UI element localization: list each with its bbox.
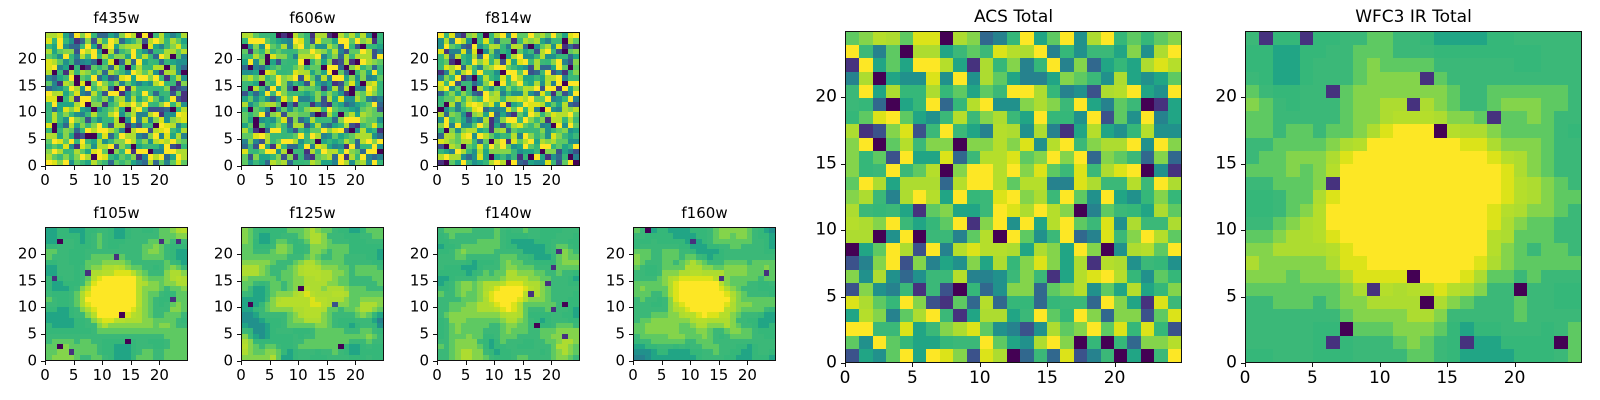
x-tick-label: 15: [513, 173, 532, 188]
y-tick-label: 0: [223, 354, 233, 369]
y-tick-mark: [41, 112, 45, 113]
x-tick-label: 5: [907, 370, 918, 387]
x-tick-label: 20: [150, 173, 169, 188]
x-tick-label: 15: [1036, 370, 1058, 387]
y-axis-f125w: 05101520: [181, 227, 233, 361]
axes-f435w: [45, 32, 188, 166]
y-tick-label: 15: [18, 273, 37, 288]
y-tick-label: 15: [1215, 155, 1237, 172]
x-tick-label: 0: [432, 173, 442, 188]
y-tick-label: 15: [410, 78, 429, 93]
x-tick-label: 0: [840, 370, 851, 387]
panel-title-f125w: f125w: [241, 206, 384, 221]
x-tick-label: 10: [681, 368, 700, 383]
panel-f140w: f140w0510152005101520: [377, 195, 580, 391]
y-tick-label: 5: [419, 132, 429, 147]
x-tick-label: 15: [121, 368, 140, 383]
y-tick-label: 5: [826, 288, 837, 305]
y-tick-mark: [237, 86, 241, 87]
x-tick-mark: [845, 363, 846, 367]
y-tick-label: 0: [27, 159, 37, 174]
x-tick-label: 20: [738, 368, 757, 383]
y-tick-mark: [841, 297, 845, 298]
x-tick-mark: [466, 166, 467, 170]
x-tick-label: 5: [69, 173, 79, 188]
heatmap-f160w: [634, 228, 775, 360]
x-tick-label: 20: [1104, 370, 1126, 387]
y-axis-f140w: 05101520: [377, 227, 429, 361]
y-tick-label: 10: [410, 105, 429, 120]
y-tick-label: 5: [419, 327, 429, 342]
x-tick-label: 10: [289, 368, 308, 383]
y-tick-mark: [237, 307, 241, 308]
x-tick-mark: [494, 361, 495, 365]
axes-f814w: [437, 32, 580, 166]
x-tick-label: 10: [485, 173, 504, 188]
y-axis-f814w: 05101520: [377, 32, 429, 166]
y-tick-label: 20: [18, 246, 37, 261]
x-tick-label: 20: [542, 173, 561, 188]
x-tick-label: 10: [93, 368, 112, 383]
y-tick-label: 20: [214, 246, 233, 261]
y-tick-label: 0: [223, 159, 233, 174]
x-tick-label: 5: [69, 368, 79, 383]
x-tick-mark: [1380, 363, 1381, 367]
y-tick-label: 15: [214, 78, 233, 93]
x-tick-mark: [1515, 363, 1516, 367]
panel-f160w: f160w0510152005101520: [573, 195, 776, 391]
y-tick-mark: [237, 281, 241, 282]
y-tick-label: 10: [606, 300, 625, 315]
panel-title-f606w: f606w: [241, 11, 384, 26]
x-tick-mark: [159, 361, 160, 365]
x-tick-mark: [1245, 363, 1246, 367]
x-tick-mark: [355, 361, 356, 365]
x-tick-mark: [327, 361, 328, 365]
x-tick-label: 20: [150, 368, 169, 383]
y-tick-mark: [1241, 297, 1245, 298]
y-tick-label: 20: [410, 51, 429, 66]
x-tick-label: 0: [432, 368, 442, 383]
axes-wfc3_total: [1245, 31, 1582, 363]
y-tick-label: 10: [214, 105, 233, 120]
y-tick-mark: [1241, 164, 1245, 165]
y-tick-mark: [629, 281, 633, 282]
y-tick-label: 0: [419, 354, 429, 369]
x-tick-mark: [131, 361, 132, 365]
y-tick-label: 20: [1215, 89, 1237, 106]
x-tick-mark: [551, 361, 552, 365]
x-tick-mark: [551, 166, 552, 170]
y-tick-mark: [629, 334, 633, 335]
y-tick-mark: [41, 59, 45, 60]
x-tick-mark: [662, 361, 663, 365]
axes-f105w: [45, 227, 188, 361]
x-tick-mark: [912, 363, 913, 367]
x-tick-label: 0: [236, 173, 246, 188]
x-tick-mark: [102, 361, 103, 365]
y-tick-mark: [433, 112, 437, 113]
y-tick-label: 10: [1215, 222, 1237, 239]
axes-f160w: [633, 227, 776, 361]
panel-f435w: f435w0510152005101520: [0, 0, 188, 196]
y-axis-f160w: 05101520: [573, 227, 625, 361]
x-tick-label: 15: [513, 368, 532, 383]
y-tick-label: 10: [18, 105, 37, 120]
x-tick-label: 0: [628, 368, 638, 383]
x-tick-label: 5: [461, 368, 471, 383]
x-tick-label: 20: [346, 173, 365, 188]
x-tick-mark: [327, 166, 328, 170]
y-tick-mark: [841, 164, 845, 165]
x-tick-mark: [102, 166, 103, 170]
y-tick-mark: [841, 97, 845, 98]
x-tick-label: 5: [265, 368, 275, 383]
y-tick-mark: [41, 281, 45, 282]
x-tick-mark: [1312, 363, 1313, 367]
panel-f606w: f606w0510152005101520: [181, 0, 384, 196]
x-tick-label: 20: [542, 368, 561, 383]
x-tick-mark: [241, 166, 242, 170]
x-tick-mark: [719, 361, 720, 365]
y-tick-mark: [237, 112, 241, 113]
heatmap-f125w: [242, 228, 383, 360]
y-tick-label: 10: [18, 300, 37, 315]
x-tick-label: 15: [317, 368, 336, 383]
x-tick-label: 5: [265, 173, 275, 188]
x-tick-mark: [74, 361, 75, 365]
y-tick-label: 10: [214, 300, 233, 315]
y-tick-label: 5: [1226, 288, 1237, 305]
y-tick-mark: [629, 254, 633, 255]
y-tick-mark: [237, 334, 241, 335]
figure-canvas: f435w0510152005101520f606w05101520051015…: [0, 0, 1600, 400]
x-tick-mark: [1047, 363, 1048, 367]
heatmap-acs_total: [846, 32, 1181, 362]
x-tick-mark: [1447, 363, 1448, 367]
x-tick-mark: [437, 166, 438, 170]
y-tick-label: 5: [27, 132, 37, 147]
panel-f814w: f814w0510152005101520: [377, 0, 580, 196]
heatmap-f606w: [242, 33, 383, 165]
x-tick-mark: [241, 361, 242, 365]
axes-f140w: [437, 227, 580, 361]
panel-title-wfc3_total: WFC3 IR Total: [1245, 9, 1582, 26]
y-tick-mark: [41, 86, 45, 87]
y-tick-mark: [433, 281, 437, 282]
y-tick-label: 5: [223, 132, 233, 147]
axes-f125w: [241, 227, 384, 361]
x-tick-label: 10: [289, 173, 308, 188]
y-tick-mark: [433, 59, 437, 60]
y-tick-mark: [237, 139, 241, 140]
x-tick-mark: [270, 166, 271, 170]
y-tick-label: 5: [223, 327, 233, 342]
y-tick-label: 10: [815, 222, 837, 239]
x-tick-mark: [523, 166, 524, 170]
panel-title-f105w: f105w: [45, 206, 188, 221]
y-tick-mark: [433, 139, 437, 140]
x-tick-label: 15: [709, 368, 728, 383]
y-tick-mark: [237, 254, 241, 255]
x-tick-mark: [74, 166, 75, 170]
x-tick-label: 5: [657, 368, 667, 383]
heatmap-wfc3_total: [1246, 32, 1581, 362]
y-axis-f105w: 05101520: [0, 227, 37, 361]
y-tick-mark: [433, 307, 437, 308]
x-tick-mark: [437, 361, 438, 365]
x-tick-label: 15: [317, 173, 336, 188]
y-tick-mark: [433, 334, 437, 335]
x-tick-label: 0: [1240, 370, 1251, 387]
x-tick-label: 15: [1436, 370, 1458, 387]
x-tick-label: 0: [40, 368, 50, 383]
heatmap-f140w: [438, 228, 579, 360]
y-tick-label: 15: [18, 78, 37, 93]
y-axis-f606w: 05101520: [181, 32, 233, 166]
x-tick-label: 10: [969, 370, 991, 387]
y-tick-mark: [1241, 97, 1245, 98]
x-tick-mark: [298, 166, 299, 170]
y-tick-label: 0: [27, 354, 37, 369]
y-axis-wfc3_total: 05101520: [1185, 31, 1237, 363]
x-tick-mark: [466, 361, 467, 365]
y-tick-mark: [41, 139, 45, 140]
x-tick-mark: [633, 361, 634, 365]
x-tick-mark: [355, 166, 356, 170]
y-tick-label: 0: [826, 355, 837, 372]
y-axis-acs_total: 05101520: [785, 31, 837, 363]
x-tick-label: 5: [1307, 370, 1318, 387]
axes-acs_total: [845, 31, 1182, 363]
x-tick-mark: [159, 166, 160, 170]
panel-title-acs_total: ACS Total: [845, 9, 1182, 26]
y-tick-label: 0: [419, 159, 429, 174]
y-tick-mark: [41, 254, 45, 255]
x-tick-label: 10: [93, 173, 112, 188]
y-tick-label: 5: [27, 327, 37, 342]
x-tick-mark: [298, 361, 299, 365]
x-tick-mark: [1115, 363, 1116, 367]
y-tick-label: 0: [615, 354, 625, 369]
y-tick-mark: [1241, 230, 1245, 231]
y-tick-label: 5: [615, 327, 625, 342]
panel-wfc3_total: WFC3 IR Total0510152005101520: [1185, 0, 1582, 393]
axes-f606w: [241, 32, 384, 166]
x-tick-mark: [494, 166, 495, 170]
y-tick-mark: [629, 307, 633, 308]
x-tick-mark: [747, 361, 748, 365]
y-tick-mark: [41, 307, 45, 308]
y-tick-label: 20: [18, 51, 37, 66]
y-tick-mark: [237, 59, 241, 60]
y-tick-mark: [841, 230, 845, 231]
panel-title-f814w: f814w: [437, 11, 580, 26]
panel-title-f140w: f140w: [437, 206, 580, 221]
panel-title-f160w: f160w: [633, 206, 776, 221]
heatmap-f105w: [46, 228, 187, 360]
y-tick-label: 15: [606, 273, 625, 288]
x-tick-label: 20: [1504, 370, 1526, 387]
x-tick-label: 20: [346, 368, 365, 383]
x-tick-mark: [690, 361, 691, 365]
y-axis-f435w: 05101520: [0, 32, 37, 166]
y-tick-mark: [41, 334, 45, 335]
y-tick-label: 20: [606, 246, 625, 261]
x-tick-label: 10: [485, 368, 504, 383]
x-tick-label: 0: [40, 173, 50, 188]
x-tick-mark: [131, 166, 132, 170]
x-tick-label: 0: [236, 368, 246, 383]
x-tick-label: 10: [1369, 370, 1391, 387]
y-tick-mark: [433, 86, 437, 87]
panel-f125w: f125w0510152005101520: [181, 195, 384, 391]
x-tick-mark: [45, 361, 46, 365]
heatmap-f435w: [46, 33, 187, 165]
panel-title-f435w: f435w: [45, 11, 188, 26]
y-tick-label: 20: [410, 246, 429, 261]
y-tick-label: 10: [410, 300, 429, 315]
panel-f105w: f105w0510152005101520: [0, 195, 188, 391]
y-tick-label: 20: [214, 51, 233, 66]
x-tick-mark: [980, 363, 981, 367]
x-tick-label: 5: [461, 173, 471, 188]
x-tick-mark: [45, 166, 46, 170]
x-tick-mark: [523, 361, 524, 365]
y-tick-label: 20: [815, 89, 837, 106]
y-tick-label: 15: [214, 273, 233, 288]
panel-acs_total: ACS Total0510152005101520: [785, 0, 1182, 393]
y-tick-label: 0: [1226, 355, 1237, 372]
x-tick-label: 15: [121, 173, 140, 188]
y-tick-mark: [433, 254, 437, 255]
y-tick-label: 15: [815, 155, 837, 172]
y-tick-label: 15: [410, 273, 429, 288]
heatmap-f814w: [438, 33, 579, 165]
x-tick-mark: [270, 361, 271, 365]
